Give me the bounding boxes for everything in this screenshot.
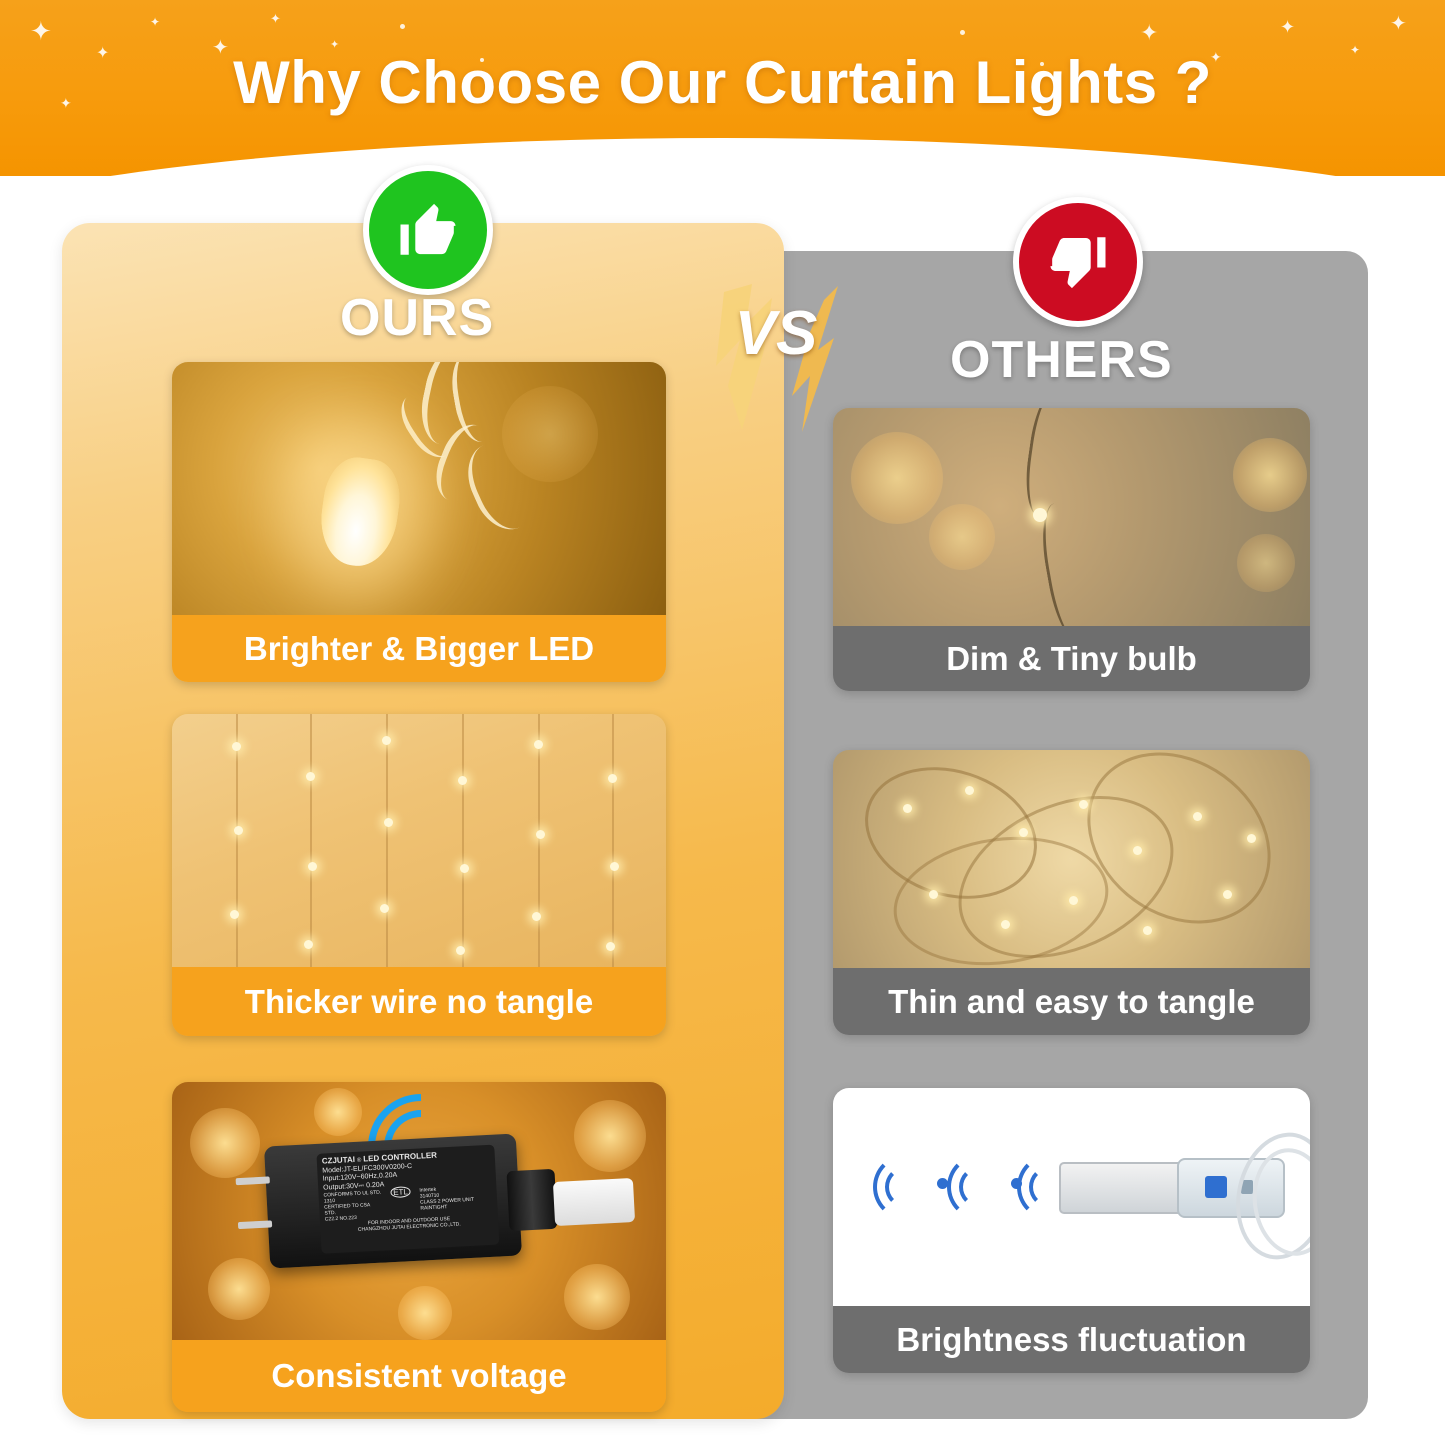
led-dot — [1019, 828, 1028, 837]
etl-mark: ETL — [390, 1186, 411, 1198]
led-dot — [1223, 890, 1232, 899]
others-card-1-label: Dim & Tiny bulb — [833, 626, 1310, 691]
led-dot — [1001, 920, 1010, 929]
plug-prong — [236, 1176, 270, 1185]
led-dot — [1143, 926, 1152, 935]
wire-strand — [612, 714, 614, 967]
led-dot — [534, 740, 543, 749]
led-dot — [1133, 846, 1142, 855]
ours-card-1: Brighter & Bigger LED — [172, 362, 666, 682]
led-dot — [606, 942, 615, 951]
led-dot — [234, 826, 243, 835]
bokeh-light — [851, 432, 943, 524]
thumbs-up-icon — [363, 165, 493, 295]
led-dot — [232, 742, 241, 751]
photo-brighter-bigger-led — [172, 362, 666, 615]
led-dot — [1247, 834, 1256, 843]
others-card-1: Dim & Tiny bulb — [833, 408, 1310, 691]
photo-tangled-wire — [833, 750, 1310, 968]
led-dot — [230, 910, 239, 919]
led-dot — [903, 804, 912, 813]
ours-card-3: CZJUTAI ® LED CONTROLLER Model:JT-EL/FC3… — [172, 1082, 666, 1412]
others-heading: OTHERS — [950, 330, 1173, 390]
others-card-3-label: Brightness fluctuation — [833, 1306, 1310, 1373]
led-dot — [536, 830, 545, 839]
photo-brightness-fluctuation — [833, 1088, 1310, 1306]
ours-card-1-label: Brighter & Bigger LED — [172, 615, 666, 682]
signal-wave-icon — [873, 1154, 939, 1220]
led-dot — [610, 862, 619, 871]
bokeh-light — [398, 1286, 452, 1340]
ours-card-2: Thicker wire no tangle — [172, 714, 666, 1036]
bokeh-light — [574, 1100, 646, 1172]
led-dot — [458, 776, 467, 785]
wire-strand — [310, 714, 312, 967]
led-dot — [308, 862, 317, 871]
led-dot — [384, 818, 393, 827]
bokeh-light — [564, 1264, 630, 1330]
wire-strand — [538, 714, 540, 967]
signal-wave-icon — [947, 1154, 1013, 1220]
others-card-2-label: Thin and easy to tangle — [833, 968, 1310, 1035]
adapter-brand: CZJUTAI — [322, 1155, 356, 1166]
header-banner: ✦ ✦ ✦ ✦ ✦ ✦ ✦ ✦ ✦ ✦ ✦ ✦ Why Choose Our C… — [0, 0, 1445, 176]
photo-dim-tiny-bulb — [833, 408, 1310, 626]
photo-thicker-wire — [172, 714, 666, 967]
led-dot — [382, 736, 391, 745]
ours-card-2-label: Thicker wire no tangle — [172, 967, 666, 1036]
power-adapter: CZJUTAI ® LED CONTROLLER Model:JT-EL/FC3… — [264, 1133, 522, 1268]
led-dot — [1193, 812, 1202, 821]
usb-button — [1205, 1176, 1227, 1198]
led-dot — [608, 774, 617, 783]
bokeh-light — [208, 1258, 270, 1320]
led-dot — [460, 864, 469, 873]
led-dot — [304, 940, 313, 949]
led-dot — [1069, 896, 1078, 905]
photo-consistent-voltage: CZJUTAI ® LED CONTROLLER Model:JT-EL/FC3… — [172, 1082, 666, 1340]
thin-wire — [1020, 408, 1081, 520]
led-dot — [306, 772, 315, 781]
led-dot — [965, 786, 974, 795]
led-dot — [532, 912, 541, 921]
ours-heading: OURS — [340, 288, 494, 348]
led-dot — [456, 946, 465, 955]
wire-strand — [236, 714, 238, 967]
tiny-led — [1033, 508, 1047, 522]
wire-strand — [462, 714, 464, 967]
led-dot — [1079, 800, 1088, 809]
page-title: Why Choose Our Curtain Lights ? — [0, 0, 1445, 117]
vs-label: VS — [706, 298, 846, 369]
bokeh-light — [190, 1108, 260, 1178]
plug-prong — [238, 1220, 272, 1229]
led-dot — [380, 904, 389, 913]
bokeh-light — [502, 386, 598, 482]
bokeh-light — [1237, 534, 1295, 592]
wire-strand — [386, 714, 388, 967]
led-dot — [929, 890, 938, 899]
bokeh-light — [1233, 438, 1307, 512]
adapter-label: CZJUTAI ® LED CONTROLLER Model:JT-EL/FC3… — [316, 1145, 499, 1254]
others-card-3: Brightness fluctuation — [833, 1088, 1310, 1373]
bokeh-light — [314, 1088, 362, 1136]
others-card-2: Thin and easy to tangle — [833, 750, 1310, 1035]
adapter-knob — [506, 1169, 557, 1231]
versus-mark: VS — [706, 280, 846, 450]
usb-connector — [1059, 1162, 1185, 1214]
led-bulb — [315, 453, 405, 571]
white-connector — [553, 1178, 635, 1226]
ours-card-3-label: Consistent voltage — [172, 1340, 666, 1412]
bokeh-light — [929, 504, 995, 570]
adapter-title: LED CONTROLLER — [363, 1151, 437, 1164]
thumbs-down-icon — [1013, 197, 1143, 327]
